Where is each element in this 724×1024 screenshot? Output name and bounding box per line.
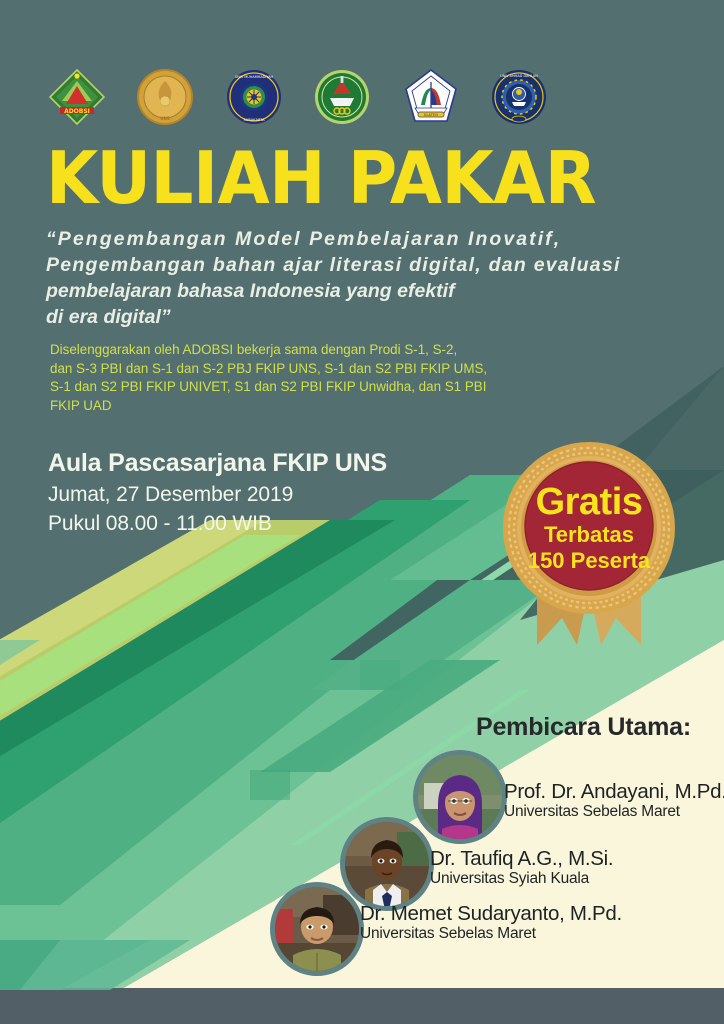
page-title: KULIAH PAKAR (46, 140, 596, 216)
unwidha-logo (313, 68, 371, 126)
organizer-line-3: S-1 dan S2 PBI FKIP UNIVET, S1 dan S2 PB… (50, 378, 520, 397)
quote-line-4: di era digital” (46, 304, 636, 330)
svg-text:UNS: UNS (161, 116, 170, 122)
organizer-line-1: Diselenggarakan oleh ADOBSI bekerja sama… (50, 341, 520, 360)
speaker-name-2: Dr. Memet Sudaryanto, M.Pd. (360, 903, 622, 925)
organizer-line-2: dan S-3 PBI dan S-1 dan S-2 PBJ FKIP UNS… (50, 360, 520, 379)
event-theme-quote: “Pengembangan Model Pembelajaran Inovati… (46, 226, 636, 330)
venue-block: Aula Pascasarjana FKIP UNS Jumat, 27 Des… (48, 447, 387, 538)
poster-canvas: ADOBSI UNS (0, 0, 724, 1024)
uad-logo: UNIV AHMAD DAHLAN (490, 68, 548, 126)
speaker-photo-memet (270, 882, 364, 976)
speaker-label-1: Dr. Taufiq A.G., M.Si. Universitas Syiah… (430, 848, 613, 887)
speaker-affiliation-2: Universitas Sebelas Maret (360, 925, 622, 942)
speaker-label-0: Prof. Dr. Andayani, M.Pd. Universitas Se… (504, 781, 724, 820)
venue-place: Aula Pascasarjana FKIP UNS (48, 447, 387, 480)
speaker-photo-andayani (413, 750, 507, 844)
quote-line-2: Pengembangan bahan ajar literasi digital… (46, 252, 636, 278)
svg-text:UNIV MUHAMMADIYAH: UNIV MUHAMMADIYAH (235, 75, 274, 79)
logo-row: ADOBSI UNS (48, 66, 548, 128)
speaker-name-0: Prof. Dr. Andayani, M.Pd. (504, 781, 724, 803)
speaker-affiliation-1: Universitas Syiah Kuala (430, 870, 613, 887)
venue-date: Jumat, 27 Desember 2019 (48, 480, 387, 509)
quote-line-3: pembelajaran bahasa Indonesia yang efekt… (46, 278, 636, 304)
speaker-affiliation-0: Universitas Sebelas Maret (504, 803, 724, 820)
status-badge: Gratis Terbatas 150 Peserta (489, 440, 689, 655)
speakers-heading: Pembicara Utama: (476, 713, 691, 742)
svg-text:KLATEN: KLATEN (424, 113, 438, 117)
speaker-photo-taufiq (340, 817, 434, 911)
svg-text:ADOBSI: ADOBSI (64, 108, 90, 115)
uns-logo: UNS (136, 68, 194, 126)
speaker-label-2: Dr. Memet Sudaryanto, M.Pd. Universitas … (360, 903, 622, 942)
organizer-line-4: FKIP UAD (50, 397, 520, 416)
venue-time: Pukul 08.00 - 11.00 WIB (48, 509, 387, 538)
organizer-note: Diselenggarakan oleh ADOBSI bekerja sama… (50, 341, 520, 415)
adobsi-logo: ADOBSI (48, 68, 106, 126)
speaker-name-1: Dr. Taufiq A.G., M.Si. (430, 848, 613, 870)
svg-text:UNIV AHMAD DAHLAN: UNIV AHMAD DAHLAN (500, 74, 538, 78)
quote-line-1: “Pengembangan Model Pembelajaran Inovati… (46, 226, 636, 252)
univet-logo: KLATEN (402, 68, 460, 126)
svg-text:SURAKARTA: SURAKARTA (243, 118, 265, 122)
ums-logo: UNIV MUHAMMADIYAH SURAKARTA (225, 68, 283, 126)
